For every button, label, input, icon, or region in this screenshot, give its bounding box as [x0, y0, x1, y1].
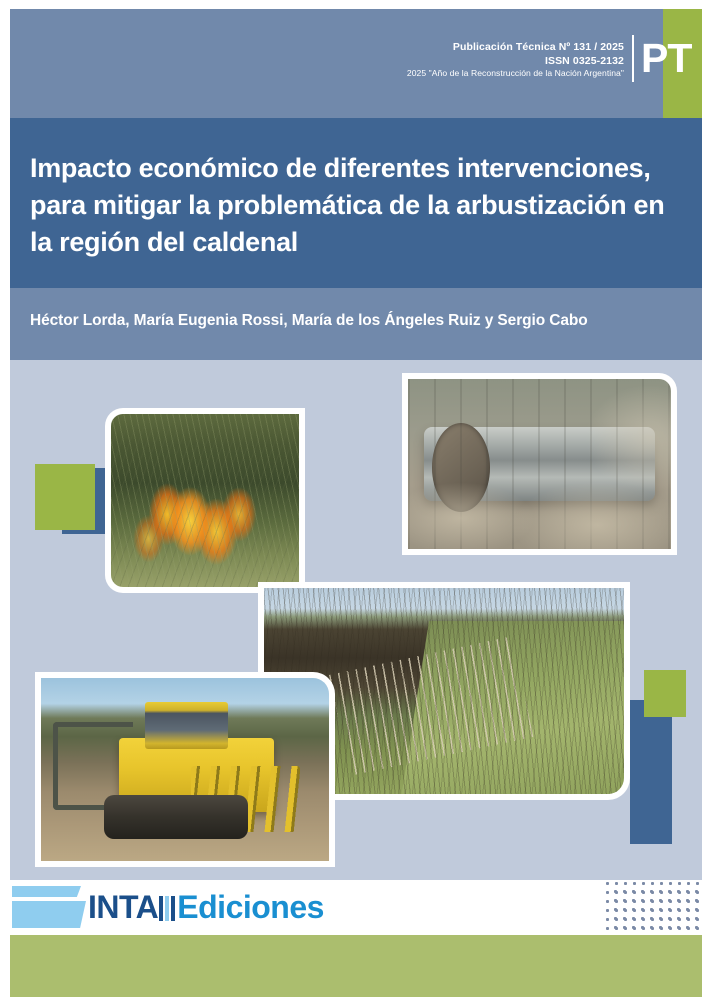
ediciones-logo-text: Ediciones: [177, 889, 324, 925]
bulldozer-photo: [35, 672, 335, 867]
header-divider: [632, 35, 634, 82]
bulldozer-tracks-shape: [104, 795, 248, 839]
inta-flag-bar-top: [12, 886, 81, 897]
decor-square-green-left: [35, 464, 95, 530]
photo-collage-area: [10, 360, 702, 880]
authors-list: Héctor Lorda, María Eugenia Rossi, María…: [30, 312, 695, 330]
bulldozer-image: [41, 678, 329, 861]
series-badge-pt: PT: [641, 34, 691, 82]
bulldozer-scene: [41, 678, 329, 861]
cover-page: Publicación Técnica Nº 131 / 2025 ISSN 0…: [0, 0, 712, 1006]
decor-square-green-right: [644, 670, 686, 717]
inta-flag-icon: [12, 884, 90, 932]
fire-photo: [105, 408, 305, 593]
roller-wheel-shape: [432, 423, 490, 511]
footer-dot-pattern-offset: [609, 885, 702, 933]
publication-number: Publicación Técnica Nº 131 / 2025: [407, 40, 624, 54]
page-margin-left: [0, 0, 10, 1006]
decor-rect-blue-right: [630, 700, 672, 844]
roller-chopper-image: [408, 379, 671, 549]
inta-ediciones-logo: INTAEdiciones: [88, 884, 324, 930]
page-margin-bottom: [0, 997, 712, 1006]
footer-green-band: [10, 935, 702, 997]
year-slogan: 2025 "Año de la Reconstrucción de la Nac…: [407, 68, 624, 80]
inta-flag-bar-bottom: [12, 901, 86, 928]
page-margin-top: [0, 0, 712, 9]
roller-chopper-scene: [408, 379, 671, 549]
fire-image: [111, 414, 299, 587]
header-metadata: Publicación Técnica Nº 131 / 2025 ISSN 0…: [407, 40, 624, 80]
roller-chopper-photo: [402, 373, 677, 555]
inta-logo-text: INTA: [88, 889, 158, 925]
page-margin-right: [702, 0, 712, 1006]
fence-line-shape: [329, 636, 534, 776]
fire-scene: [111, 414, 299, 587]
page-title: Impacto económico de diferentes interven…: [30, 150, 690, 261]
bulldozer-cab-shape: [145, 702, 229, 750]
inta-stripes-icon: [159, 896, 175, 921]
issn-number: ISSN 0325-2132: [407, 54, 624, 68]
